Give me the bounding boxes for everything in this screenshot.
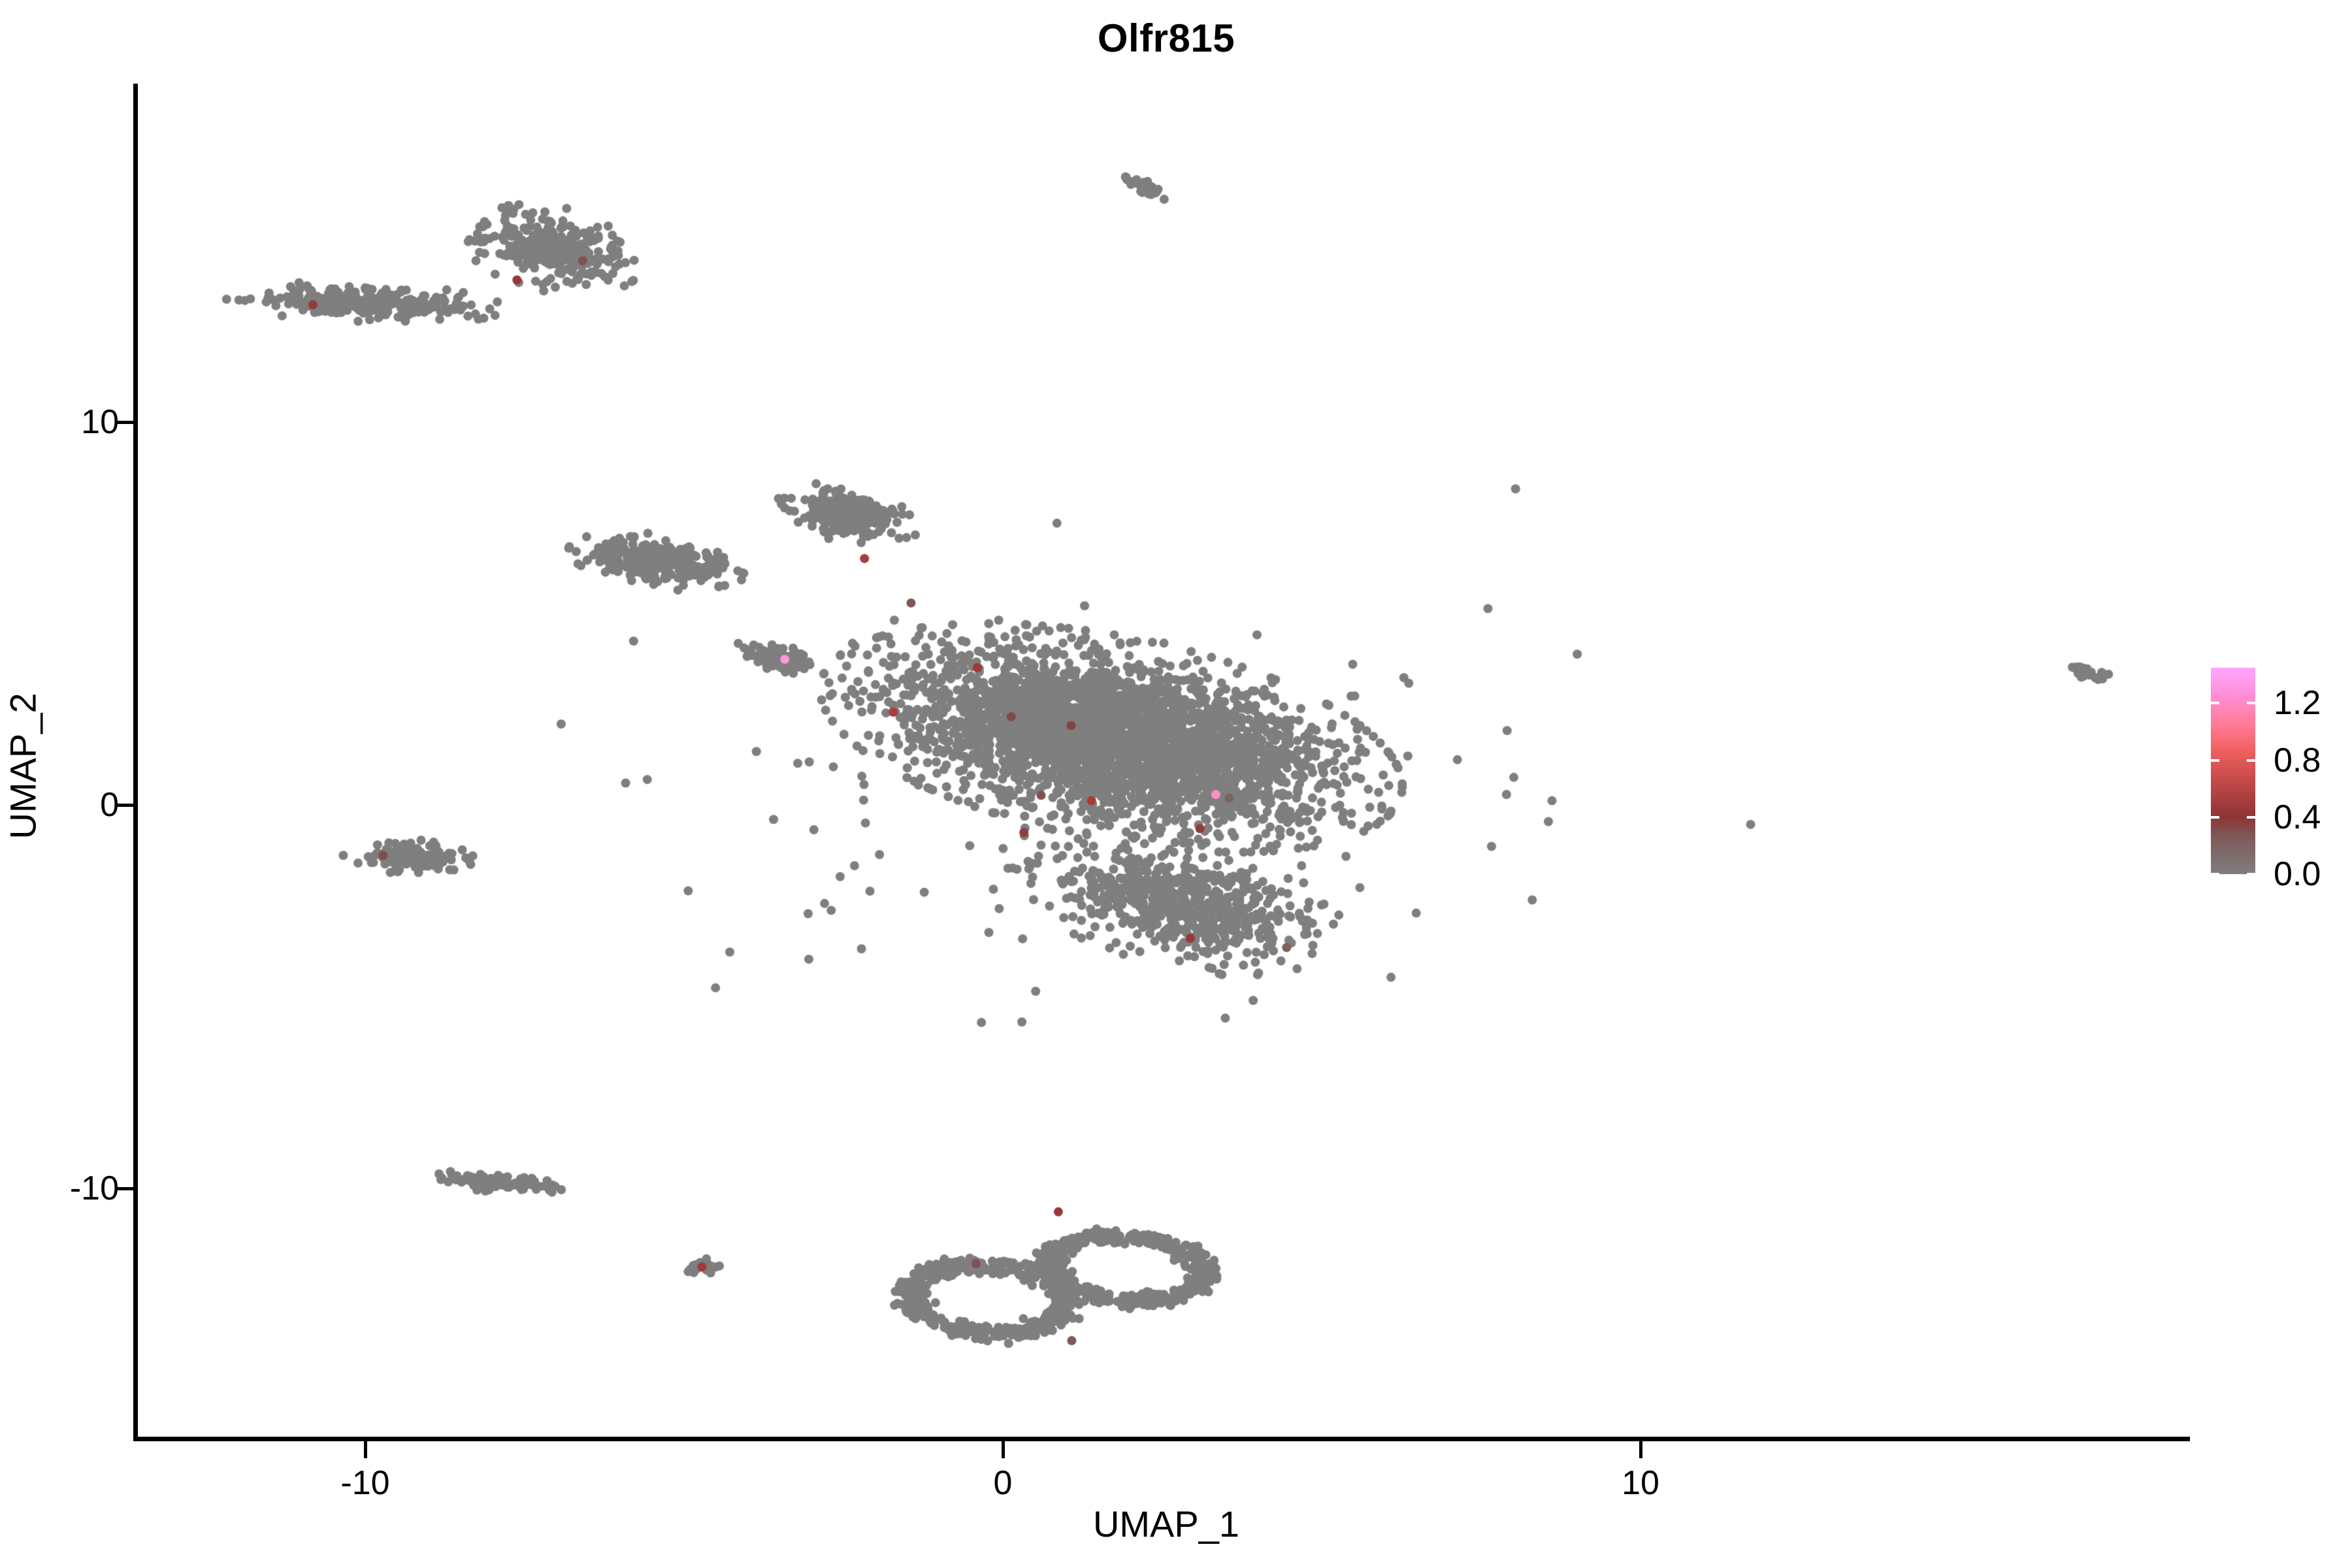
x-axis-line xyxy=(133,1437,2190,1441)
color-legend-gradient-bar xyxy=(2211,668,2255,874)
legend-tick-label: 0.8 xyxy=(2274,741,2321,780)
legend-tick-label: 1.2 xyxy=(2274,683,2321,723)
legend-tick-mark xyxy=(2211,759,2219,762)
legend-tick-mark xyxy=(2247,816,2255,819)
legend-tick-mark xyxy=(2211,873,2219,875)
umap-feature-plot: Olfr815 -10010 -10010 UMAP_1 UMAP_2 0.00… xyxy=(0,0,2352,1568)
x-tick-mark xyxy=(364,1441,367,1458)
x-tick-label: -10 xyxy=(340,1463,389,1503)
legend-tick-mark xyxy=(2247,873,2255,875)
legend-tick-mark xyxy=(2247,759,2255,762)
y-tick-label: 0 xyxy=(100,785,119,825)
x-tick-mark xyxy=(1002,1441,1005,1458)
x-tick-label: 0 xyxy=(994,1463,1013,1503)
y-axis-title: UMAP_2 xyxy=(2,570,44,962)
y-tick-label: 10 xyxy=(81,402,119,442)
scatter-canvas xyxy=(0,0,2352,1568)
legend-tick-mark xyxy=(2211,816,2219,819)
legend-tick-label: 0.4 xyxy=(2274,798,2321,837)
legend-tick-mark xyxy=(2247,702,2255,704)
legend-tick-label: 0.0 xyxy=(2274,855,2321,894)
y-tick-label: -10 xyxy=(70,1169,119,1208)
color-legend xyxy=(2211,668,2255,874)
y-axis-line xyxy=(133,84,138,1441)
legend-tick-mark xyxy=(2211,702,2219,704)
x-axis-title: UMAP_1 xyxy=(0,1503,2332,1545)
x-tick-label: 10 xyxy=(1622,1463,1659,1503)
x-tick-mark xyxy=(1639,1441,1642,1458)
